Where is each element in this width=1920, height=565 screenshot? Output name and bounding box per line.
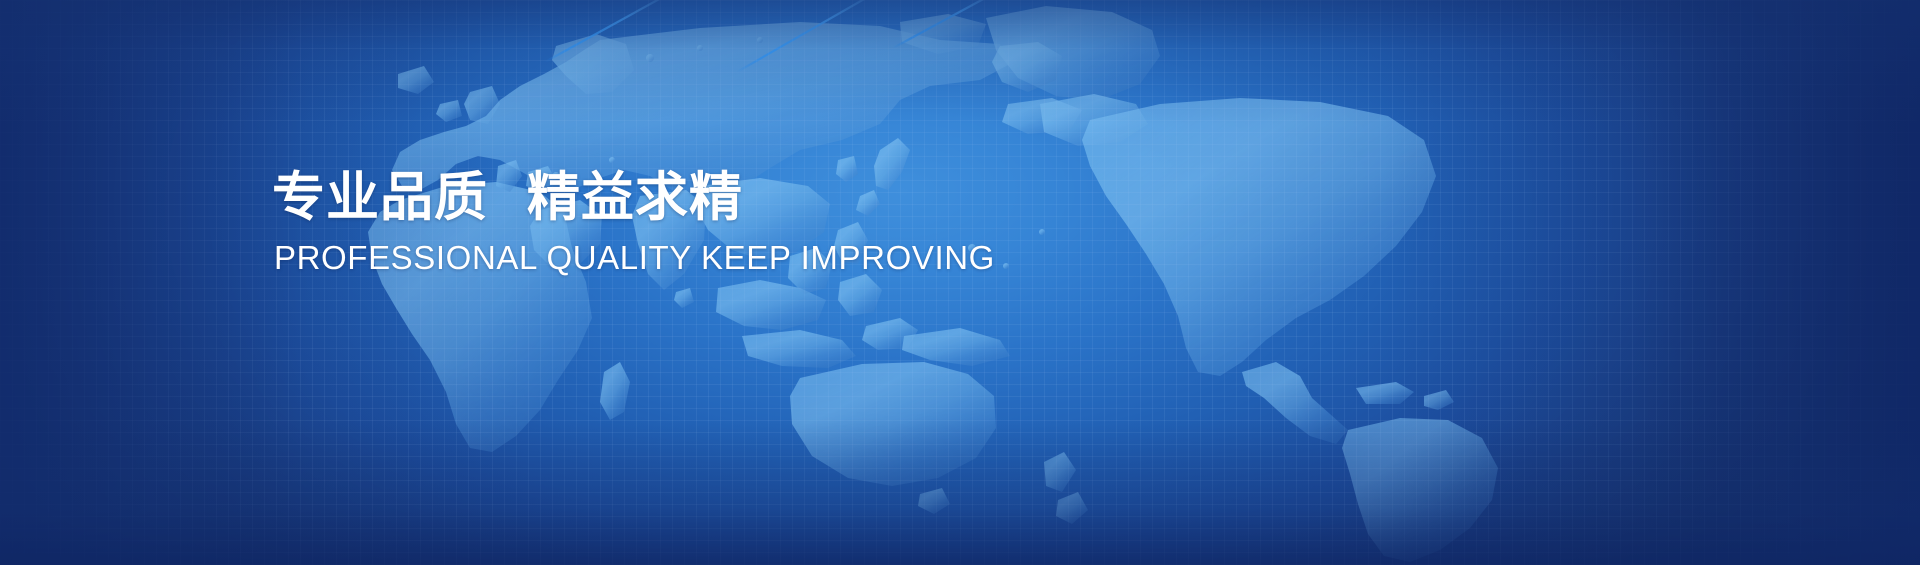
edge-shade-bottom bbox=[0, 0, 1920, 565]
banner-copy-block: 专业品质 精益求精 PROFESSIONAL QUALITY KEEP IMPR… bbox=[272, 168, 1172, 277]
banner-subheadline-english: PROFESSIONAL QUALITY KEEP IMPROVING bbox=[274, 240, 1172, 276]
hero-banner: 专业品质 精益求精 PROFESSIONAL QUALITY KEEP IMPR… bbox=[0, 0, 1920, 565]
banner-headline-chinese: 专业品质 精益求精 bbox=[272, 168, 1172, 227]
